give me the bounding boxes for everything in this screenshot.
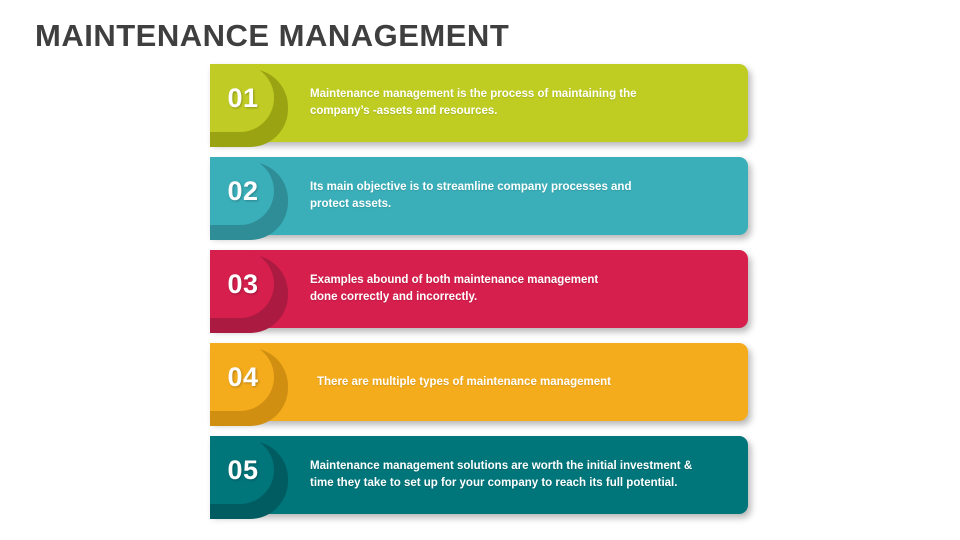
- badge-number: 01: [225, 85, 258, 112]
- list-item-text: Its main objective is to streamline comp…: [310, 157, 732, 235]
- list-item-text: Maintenance management solutions are wor…: [310, 436, 732, 514]
- list-item-text: There are multiple types of maintenance …: [317, 343, 732, 421]
- list-item[interactable]: 03 Examples abound of both maintenance m…: [210, 250, 748, 328]
- list-item[interactable]: 05 Maintenance management solutions are …: [210, 436, 748, 514]
- badge-number: 04: [225, 364, 258, 391]
- list-item[interactable]: 02 Its main objective is to streamline c…: [210, 157, 748, 235]
- badge-number: 02: [225, 178, 258, 205]
- badge-number: 05: [225, 457, 258, 484]
- list-item-text: Examples abound of both maintenance mana…: [310, 250, 732, 328]
- list-item-text: Maintenance management is the process of…: [310, 64, 732, 142]
- badge-number: 03: [225, 271, 258, 298]
- list-item[interactable]: 04 There are multiple types of maintenan…: [210, 343, 748, 421]
- page-title: MAINTENANCE MANAGEMENT: [35, 17, 509, 55]
- list-item[interactable]: 01 Maintenance management is the process…: [210, 64, 748, 142]
- slide-canvas: MAINTENANCE MANAGEMENT 01 Maintenance ma…: [0, 0, 960, 540]
- numbered-list: 01 Maintenance management is the process…: [210, 64, 750, 529]
